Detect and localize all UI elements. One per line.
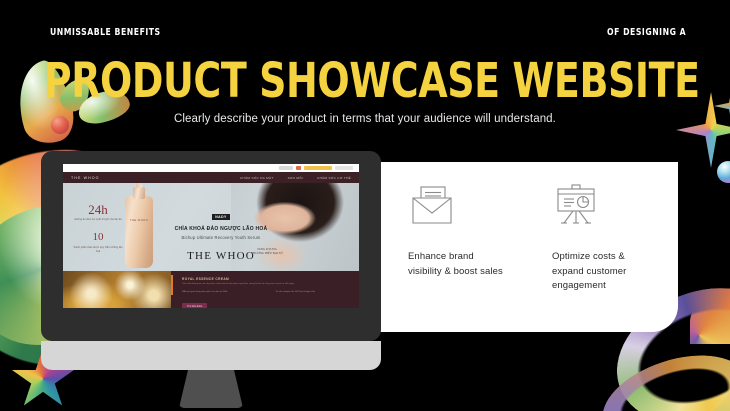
promo-copy: ROYAL ESSENCE CREAM Tinh chất dưỡng da c… xyxy=(171,271,359,308)
browser-chrome-bar xyxy=(63,164,359,172)
browser-alert-icon xyxy=(296,166,301,170)
open-envelope-icon xyxy=(408,184,456,228)
site-navbar[interactable]: THE WHOO CHĂM SÓC DA MẶT SON MÔI CHĂM SÓ… xyxy=(63,172,359,183)
monitor-screen: THE WHOO CHĂM SÓC DA MẶT SON MÔI CHĂM SÓ… xyxy=(63,164,359,308)
hero-stat-caption-1: dưỡng ẩm liên tục suốt 24 giờ cho làn da xyxy=(73,218,123,222)
benefit-item-1: Enhance brand visibility & boost sales xyxy=(408,184,508,294)
site-nav-link-2[interactable]: SON MÔI xyxy=(288,176,304,180)
page-subtitle: Clearly describe your product in terms t… xyxy=(0,113,730,125)
monitor-stand xyxy=(179,370,243,408)
browser-action-icon xyxy=(335,166,353,170)
benefit-label-2: Optimize costs & expand customer engagem… xyxy=(552,250,652,294)
page-title: PRODUCT SHOWCASE WEBSITE xyxy=(44,57,686,105)
site-nav-link-1[interactable]: CHĂM SÓC DA MẶT xyxy=(240,176,274,180)
browser-pill-icon xyxy=(279,166,293,170)
promo-product-photo xyxy=(63,271,171,308)
monitor-chin xyxy=(41,341,381,370)
promo-body: Tinh chất dưỡng da cao cấp được chiết xu… xyxy=(182,283,353,287)
gradient-corner-accent-icon xyxy=(690,300,730,344)
browser-banner-icon xyxy=(304,166,332,170)
presentation-chart-icon xyxy=(552,184,600,228)
promo-column-left: Miễn phí giao hàng toàn quốc cho đơn từ … xyxy=(182,291,227,295)
promo-columns: Miễn phí giao hàng toàn quốc cho đơn từ … xyxy=(182,291,353,295)
hero-stat-caption-2: thành phần thảo dược quý hiếm chống lão … xyxy=(73,246,123,254)
benefit-item-2: Optimize costs & expand customer engagem… xyxy=(552,184,652,294)
benefit-label-1: Enhance brand visibility & boost sales xyxy=(408,250,508,279)
site-nav-link-3[interactable]: CHĂM SÓC CƠ THỂ xyxy=(317,176,351,180)
site-hero: 24h dưỡng ẩm liên tục suốt 24 giờ cho là… xyxy=(63,183,359,271)
benefits-card: Enhance brand visibility & boost sales xyxy=(378,162,678,332)
gradient-orb-icon xyxy=(717,161,730,183)
slide-root: UNMISSABLE BENEFITS OF DESIGNING A PRODU… xyxy=(0,0,730,411)
hero-stat-value-2: 10 xyxy=(73,231,123,244)
monitor-mockup: THE WHOO CHĂM SÓC DA MẶT SON MÔI CHĂM SÓ… xyxy=(41,151,381,370)
promo-title: ROYAL ESSENCE CREAM xyxy=(182,277,353,281)
site-nav-links[interactable]: CHĂM SÓC DA MẶT SON MÔI CHĂM SÓC CƠ THỂ xyxy=(240,176,351,180)
hero-subheadline: Bichup Ultimate Recovery Youth Serum xyxy=(159,235,283,240)
hero-signature: SUNG KYUNG THƯƠNG HIỆU ĐẠI SỨ xyxy=(239,247,295,255)
promo-cta-button[interactable]: Tìm hiểu thêm xyxy=(182,303,207,308)
kicker-right: OF DESIGNING A xyxy=(607,27,686,38)
hero-stat-value-1: 24h xyxy=(73,203,123,216)
gradient-swirl-ring-secondary-icon xyxy=(591,339,730,411)
hero-headline: CHÌA KHOÁ ĐẢO NGƯỢC LÃO HOÁ xyxy=(159,226,283,232)
browser-toolbar-icons xyxy=(279,166,353,170)
product-bottle-label: THE WHOO xyxy=(125,218,153,222)
promo-accent-bar xyxy=(171,275,173,295)
monitor-bezel: THE WHOO CHĂM SÓC DA MẶT SON MÔI CHĂM SÓ… xyxy=(41,151,381,341)
hero-badge: NADY xyxy=(212,214,230,220)
site-promo-section: ROYAL ESSENCE CREAM Tinh chất dưỡng da c… xyxy=(63,271,359,308)
hero-signature-role: THƯƠNG HIỆU ĐẠI SỨ xyxy=(239,251,295,255)
site-logo[interactable]: THE WHOO xyxy=(71,176,100,180)
kicker-left: UNMISSABLE BENEFITS xyxy=(50,27,161,38)
promo-column-right: Tư vấn chuyên sâu 24/7 bởi chuyên viên xyxy=(275,291,315,295)
hero-stats: 24h dưỡng ẩm liên tục suốt 24 giờ cho là… xyxy=(73,203,123,263)
product-bottle-image: THE WHOO xyxy=(125,196,153,268)
